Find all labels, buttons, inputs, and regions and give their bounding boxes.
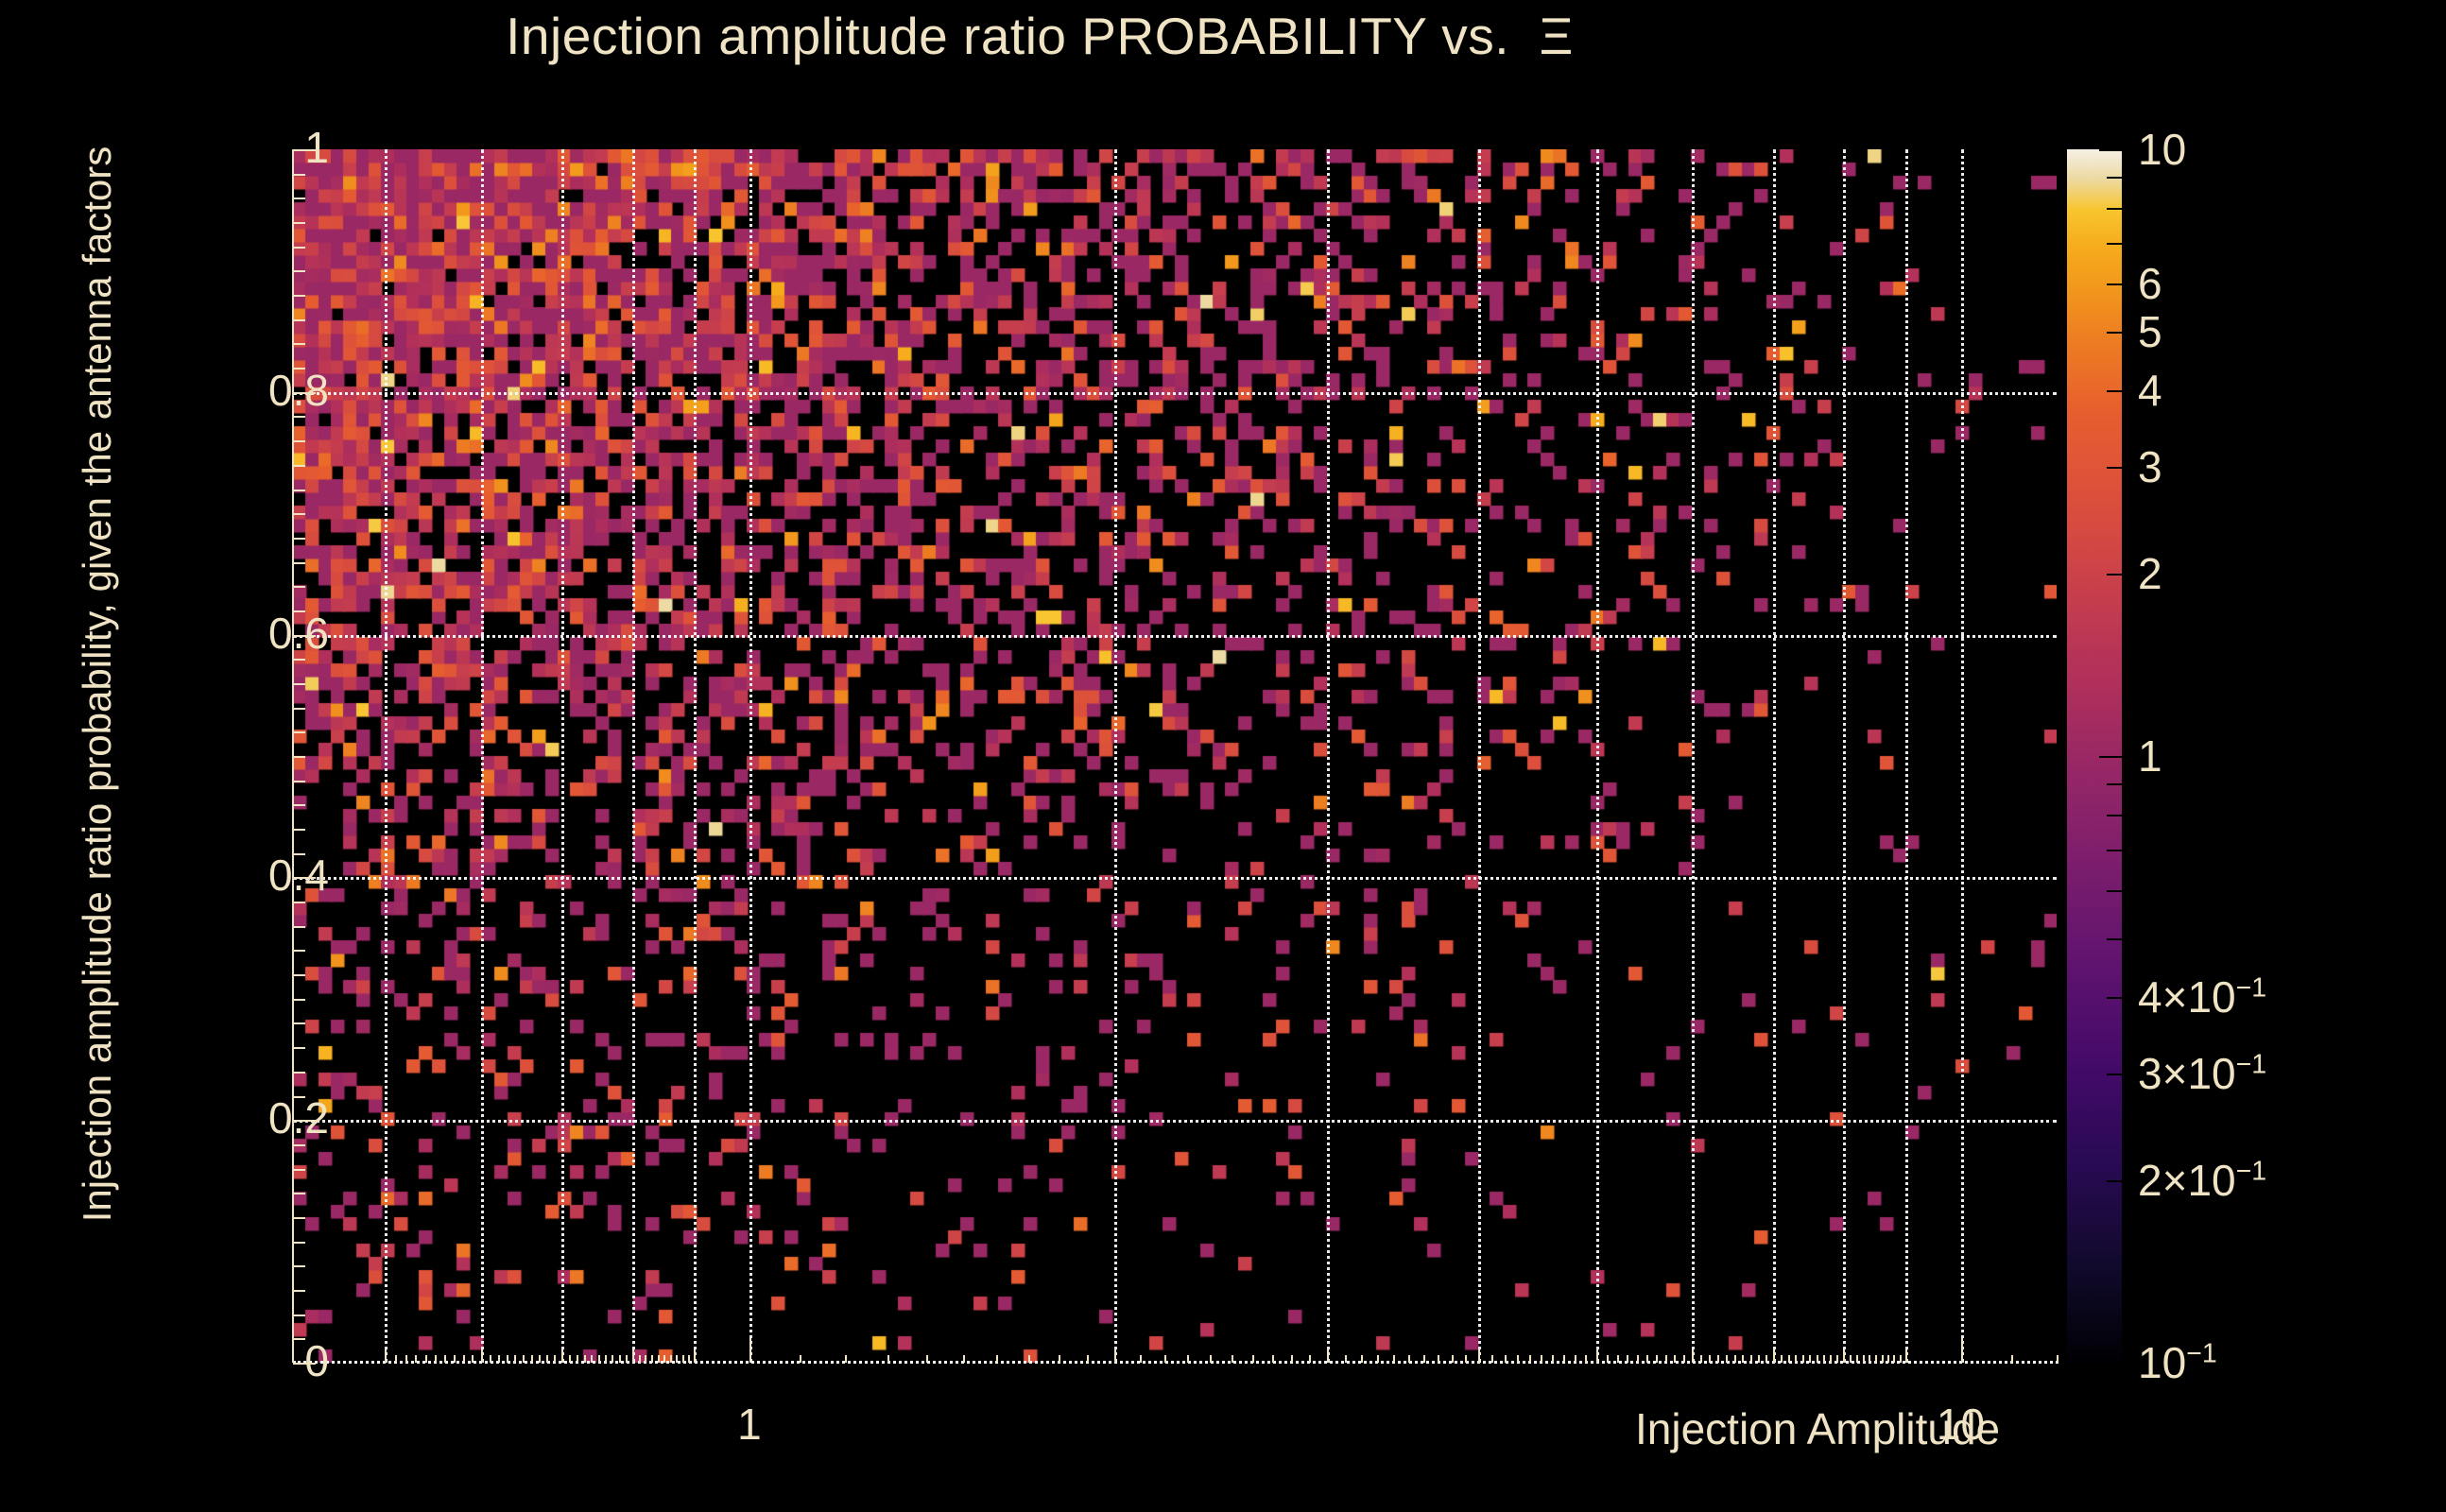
y-tick-minor bbox=[293, 270, 305, 272]
x-tick-minor bbox=[1766, 1355, 1767, 1363]
colorbar-tick-label: 3×10−1 bbox=[2138, 1048, 2266, 1099]
y-tick-minor bbox=[293, 1242, 305, 1244]
colorbar-tick bbox=[2107, 1074, 2122, 1075]
x-tick-minor bbox=[1856, 1355, 1858, 1363]
x-tick-minor bbox=[1836, 1355, 1838, 1363]
x-tick-minor bbox=[611, 1355, 613, 1363]
x-tick-minor bbox=[1309, 1355, 1311, 1363]
y-tick-label: 0.8 bbox=[268, 365, 329, 416]
x-tick-minor bbox=[1596, 1349, 1598, 1363]
x-tick-label: 1 bbox=[737, 1399, 762, 1450]
y-tick-minor bbox=[293, 490, 305, 491]
x-tick-minor bbox=[1887, 1355, 1889, 1363]
x-tick-minor bbox=[1585, 1355, 1587, 1363]
y-tick-minor bbox=[293, 708, 305, 710]
x-tick-minor bbox=[1875, 1355, 1877, 1363]
y-tick-minor bbox=[293, 586, 305, 588]
x-tick-minor bbox=[1563, 1355, 1565, 1363]
x-tick-minor bbox=[1802, 1355, 1804, 1363]
colorbar-tick bbox=[2099, 149, 2122, 151]
colorbar-tick bbox=[2107, 815, 2122, 816]
x-tick-minor bbox=[523, 1355, 525, 1363]
y-tick-minor bbox=[293, 174, 305, 176]
x-tick-minor bbox=[1232, 1355, 1233, 1363]
y-tick-minor bbox=[293, 416, 305, 418]
x-tick-minor bbox=[1717, 1355, 1719, 1363]
y-tick-minor bbox=[293, 1217, 305, 1219]
colorbar-tick-label: 5 bbox=[2138, 306, 2162, 357]
y-tick-minor bbox=[293, 731, 305, 733]
x-tick-minor bbox=[1140, 1355, 1142, 1363]
y-tick-minor bbox=[293, 538, 305, 540]
chart-root: Injection amplitude ratio PROBABILITY vs… bbox=[0, 0, 2446, 1512]
y-tick-minor bbox=[293, 999, 305, 1001]
x-tick-minor bbox=[1700, 1355, 1702, 1363]
x-tick-minor bbox=[1345, 1355, 1347, 1363]
heatmap-canvas bbox=[293, 149, 2057, 1363]
y-tick-minor bbox=[293, 1314, 305, 1316]
y-tick-minor bbox=[293, 295, 305, 297]
x-tick-minor bbox=[1291, 1355, 1293, 1363]
x-tick-minor bbox=[1114, 1349, 1116, 1363]
x-tick-minor bbox=[1823, 1355, 1825, 1363]
x-tick-minor bbox=[1452, 1355, 1454, 1363]
x-tick-minor bbox=[1393, 1355, 1395, 1363]
x-tick-minor bbox=[1646, 1355, 1648, 1363]
x-tick-minor bbox=[1773, 1349, 1775, 1363]
colorbar-tick bbox=[2107, 850, 2122, 851]
x-tick-minor bbox=[1817, 1355, 1818, 1363]
x-tick-minor bbox=[1674, 1355, 1676, 1363]
x-tick-minor bbox=[1781, 1355, 1783, 1363]
y-tick-minor bbox=[293, 902, 305, 903]
x-tick-minor bbox=[626, 1355, 628, 1363]
x-tick-minor bbox=[1505, 1355, 1507, 1363]
x-tick-minor bbox=[1164, 1355, 1166, 1363]
x-tick-minor bbox=[1210, 1355, 1212, 1363]
y-tick-label: 0 bbox=[304, 1335, 329, 1386]
x-tick-minor bbox=[1327, 1349, 1329, 1363]
y-tick-minor bbox=[293, 1144, 305, 1146]
x-tick-minor bbox=[577, 1355, 578, 1363]
y-tick-label: 1 bbox=[304, 122, 329, 173]
y-tick-minor bbox=[293, 781, 305, 782]
x-tick-minor bbox=[463, 1355, 465, 1363]
y-tick-minor bbox=[293, 1290, 305, 1292]
x-tick-minor bbox=[1758, 1355, 1760, 1363]
y-tick-minor bbox=[293, 683, 305, 685]
x-tick-minor bbox=[1665, 1355, 1667, 1363]
x-tick-minor bbox=[498, 1355, 500, 1363]
x-tick-minor bbox=[1893, 1355, 1895, 1363]
colorbar-tick bbox=[2107, 208, 2122, 210]
y-tick-minor bbox=[293, 1022, 305, 1024]
x-tick-minor bbox=[546, 1355, 548, 1363]
x-tick-minor bbox=[1087, 1355, 1089, 1363]
x-tick-minor bbox=[1809, 1355, 1811, 1363]
x-tick-minor bbox=[845, 1355, 847, 1363]
x-tick-minor bbox=[651, 1355, 653, 1363]
colorbar-tick bbox=[2099, 756, 2122, 758]
y-tick-minor bbox=[293, 1265, 305, 1267]
x-tick-minor bbox=[1377, 1355, 1379, 1363]
x-tick-minor bbox=[1541, 1355, 1542, 1363]
x-tick-minor bbox=[887, 1355, 889, 1363]
x-tick-minor bbox=[1726, 1355, 1728, 1363]
x-tick-minor bbox=[800, 1355, 801, 1363]
x-tick-minor bbox=[1900, 1355, 1902, 1363]
x-tick-minor bbox=[415, 1355, 417, 1363]
x-tick-minor bbox=[1408, 1355, 1410, 1363]
colorbar-tick-label: 2 bbox=[2138, 548, 2162, 599]
y-tick-minor bbox=[293, 465, 305, 467]
y-tick-minor bbox=[293, 440, 305, 442]
x-tick-minor bbox=[598, 1355, 600, 1363]
x-tick-minor bbox=[472, 1355, 474, 1363]
colorbar-tick-label: 1 bbox=[2138, 730, 2162, 782]
x-tick-minor bbox=[444, 1355, 446, 1363]
y-tick-label: 0.4 bbox=[268, 850, 329, 901]
x-tick-minor bbox=[1252, 1355, 1254, 1363]
x-tick-minor bbox=[1830, 1355, 1832, 1363]
colorbar-tick bbox=[2107, 283, 2122, 285]
x-tick-minor bbox=[1607, 1355, 1609, 1363]
colorbar-tick bbox=[2099, 1363, 2122, 1365]
x-tick-minor bbox=[1272, 1355, 1274, 1363]
colorbar-tick bbox=[2107, 783, 2122, 785]
y-tick-minor bbox=[293, 222, 305, 224]
x-tick-minor bbox=[605, 1355, 607, 1363]
x-tick-minor bbox=[591, 1355, 593, 1363]
y-tick-minor bbox=[293, 974, 305, 976]
x-tick-minor bbox=[531, 1355, 533, 1363]
x-tick-minor bbox=[676, 1355, 678, 1363]
heatmap-plot-area bbox=[293, 149, 2057, 1363]
x-tick-minor bbox=[1709, 1355, 1711, 1363]
y-tick-minor bbox=[293, 319, 305, 321]
colorbar-tick-label: 6 bbox=[2138, 258, 2162, 309]
x-tick-minor bbox=[682, 1355, 684, 1363]
x-tick-minor bbox=[2011, 1355, 2013, 1363]
x-tick-minor bbox=[1788, 1355, 1790, 1363]
page-title: Injection amplitude ratio PROBABILITY vs… bbox=[0, 6, 2079, 66]
x-tick-minor bbox=[539, 1355, 541, 1363]
x-tick-minor bbox=[996, 1355, 998, 1363]
x-tick-minor bbox=[1552, 1355, 1554, 1363]
x-tick-minor bbox=[1692, 1349, 1694, 1363]
colorbar-tick bbox=[2107, 467, 2122, 469]
x-tick-minor bbox=[2057, 1355, 2058, 1363]
x-tick-minor bbox=[507, 1355, 508, 1363]
x-tick-minor bbox=[1465, 1355, 1467, 1363]
x-tick-minor bbox=[1517, 1355, 1519, 1363]
x-tick-minor bbox=[1028, 1355, 1030, 1363]
colorbar-tick bbox=[2107, 332, 2122, 334]
x-tick-minor bbox=[619, 1355, 621, 1363]
x-tick-minor bbox=[1059, 1355, 1060, 1363]
y-tick-minor bbox=[293, 1338, 305, 1340]
colorbar-tick-label: 4×10−1 bbox=[2138, 971, 2266, 1022]
x-axis-line bbox=[293, 1361, 2058, 1364]
x-tick-minor bbox=[1734, 1355, 1736, 1363]
colorbar-tick-label: 2×10−1 bbox=[2138, 1155, 2266, 1206]
x-tick-minor bbox=[1438, 1355, 1439, 1363]
x-tick-minor bbox=[1882, 1355, 1884, 1363]
x-tick-major bbox=[749, 1338, 751, 1363]
x-tick-minor bbox=[561, 1349, 563, 1363]
colorbar-tick bbox=[2107, 574, 2122, 576]
y-tick-minor bbox=[293, 829, 305, 831]
x-tick-minor bbox=[639, 1355, 641, 1363]
colorbar-tick-label: 10−1 bbox=[2138, 1337, 2217, 1388]
x-tick-minor bbox=[1637, 1355, 1639, 1363]
x-tick-minor bbox=[1491, 1355, 1493, 1363]
y-tick-minor bbox=[293, 562, 305, 564]
y-tick-label: 0.6 bbox=[268, 608, 329, 659]
x-tick-minor bbox=[1529, 1355, 1531, 1363]
x-tick-minor bbox=[1627, 1355, 1628, 1363]
x-tick-minor bbox=[1750, 1355, 1752, 1363]
x-tick-minor bbox=[645, 1355, 646, 1363]
x-tick-minor bbox=[1478, 1349, 1480, 1363]
colorbar bbox=[2067, 149, 2122, 1363]
x-tick-minor bbox=[425, 1355, 427, 1363]
y-tick-minor bbox=[293, 513, 305, 515]
colorbar-tick bbox=[2107, 390, 2122, 392]
colorbar-tick-label: 4 bbox=[2138, 365, 2162, 416]
x-tick-minor bbox=[663, 1355, 665, 1363]
x-tick-minor bbox=[1863, 1355, 1865, 1363]
colorbar-tick-label: 3 bbox=[2138, 441, 2162, 492]
x-tick-minor bbox=[688, 1355, 690, 1363]
x-tick-minor bbox=[926, 1355, 928, 1363]
x-tick-minor bbox=[1905, 1349, 1907, 1363]
x-tick-minor bbox=[1656, 1355, 1658, 1363]
x-tick-minor bbox=[405, 1355, 407, 1363]
y-tick-minor bbox=[293, 804, 305, 806]
y-tick-minor bbox=[293, 659, 305, 661]
y-tick-minor bbox=[293, 950, 305, 952]
colorbar-tick bbox=[2107, 890, 2122, 892]
x-tick-minor bbox=[1795, 1355, 1797, 1363]
x-tick-minor bbox=[632, 1349, 634, 1363]
colorbar-tick bbox=[2107, 243, 2122, 245]
y-tick-minor bbox=[293, 756, 305, 758]
x-tick-minor bbox=[395, 1355, 397, 1363]
y-tick-minor bbox=[293, 1047, 305, 1049]
x-tick-minor bbox=[1187, 1355, 1189, 1363]
x-tick-minor bbox=[1617, 1355, 1619, 1363]
x-tick-minor bbox=[670, 1355, 672, 1363]
x-tick-minor bbox=[554, 1355, 556, 1363]
x-tick-minor bbox=[490, 1355, 491, 1363]
x-tick-minor bbox=[963, 1355, 965, 1363]
y-tick-minor bbox=[293, 247, 305, 249]
colorbar-tick bbox=[2107, 1180, 2122, 1182]
x-tick-minor bbox=[481, 1349, 483, 1363]
x-tick-minor bbox=[1843, 1349, 1845, 1363]
x-tick-major bbox=[1961, 1338, 1963, 1363]
y-tick-label: 0.2 bbox=[268, 1092, 329, 1143]
x-axis-title: Injection Amplitude bbox=[1635, 1403, 2000, 1454]
x-tick-minor bbox=[1742, 1355, 1744, 1363]
y-tick-minor bbox=[293, 1169, 305, 1171]
x-tick-minor bbox=[454, 1355, 456, 1363]
x-tick-minor bbox=[435, 1355, 437, 1363]
x-tick-minor bbox=[1423, 1355, 1425, 1363]
x-tick-minor bbox=[694, 1349, 696, 1363]
y-axis-title: Injection amplitude ratio probability, g… bbox=[75, 127, 120, 1242]
x-tick-minor bbox=[1361, 1355, 1363, 1363]
y-tick-minor bbox=[293, 926, 305, 928]
y-tick-minor bbox=[293, 1072, 305, 1074]
x-tick-minor bbox=[1850, 1355, 1852, 1363]
x-tick-minor bbox=[514, 1355, 516, 1363]
colorbar-tick bbox=[2107, 938, 2122, 940]
colorbar-tick bbox=[2107, 177, 2122, 179]
x-tick-minor bbox=[385, 1349, 387, 1363]
y-tick-minor bbox=[293, 343, 305, 345]
y-tick-minor bbox=[293, 198, 305, 199]
colorbar-tick bbox=[2107, 997, 2122, 999]
y-tick-minor bbox=[293, 1193, 305, 1194]
x-tick-minor bbox=[584, 1355, 586, 1363]
x-tick-minor bbox=[1683, 1355, 1685, 1363]
x-tick-minor bbox=[569, 1355, 571, 1363]
x-tick-minor bbox=[1575, 1355, 1576, 1363]
x-tick-minor bbox=[1869, 1355, 1870, 1363]
x-tick-minor bbox=[658, 1355, 660, 1363]
colorbar-tick-label: 10 bbox=[2138, 124, 2186, 175]
